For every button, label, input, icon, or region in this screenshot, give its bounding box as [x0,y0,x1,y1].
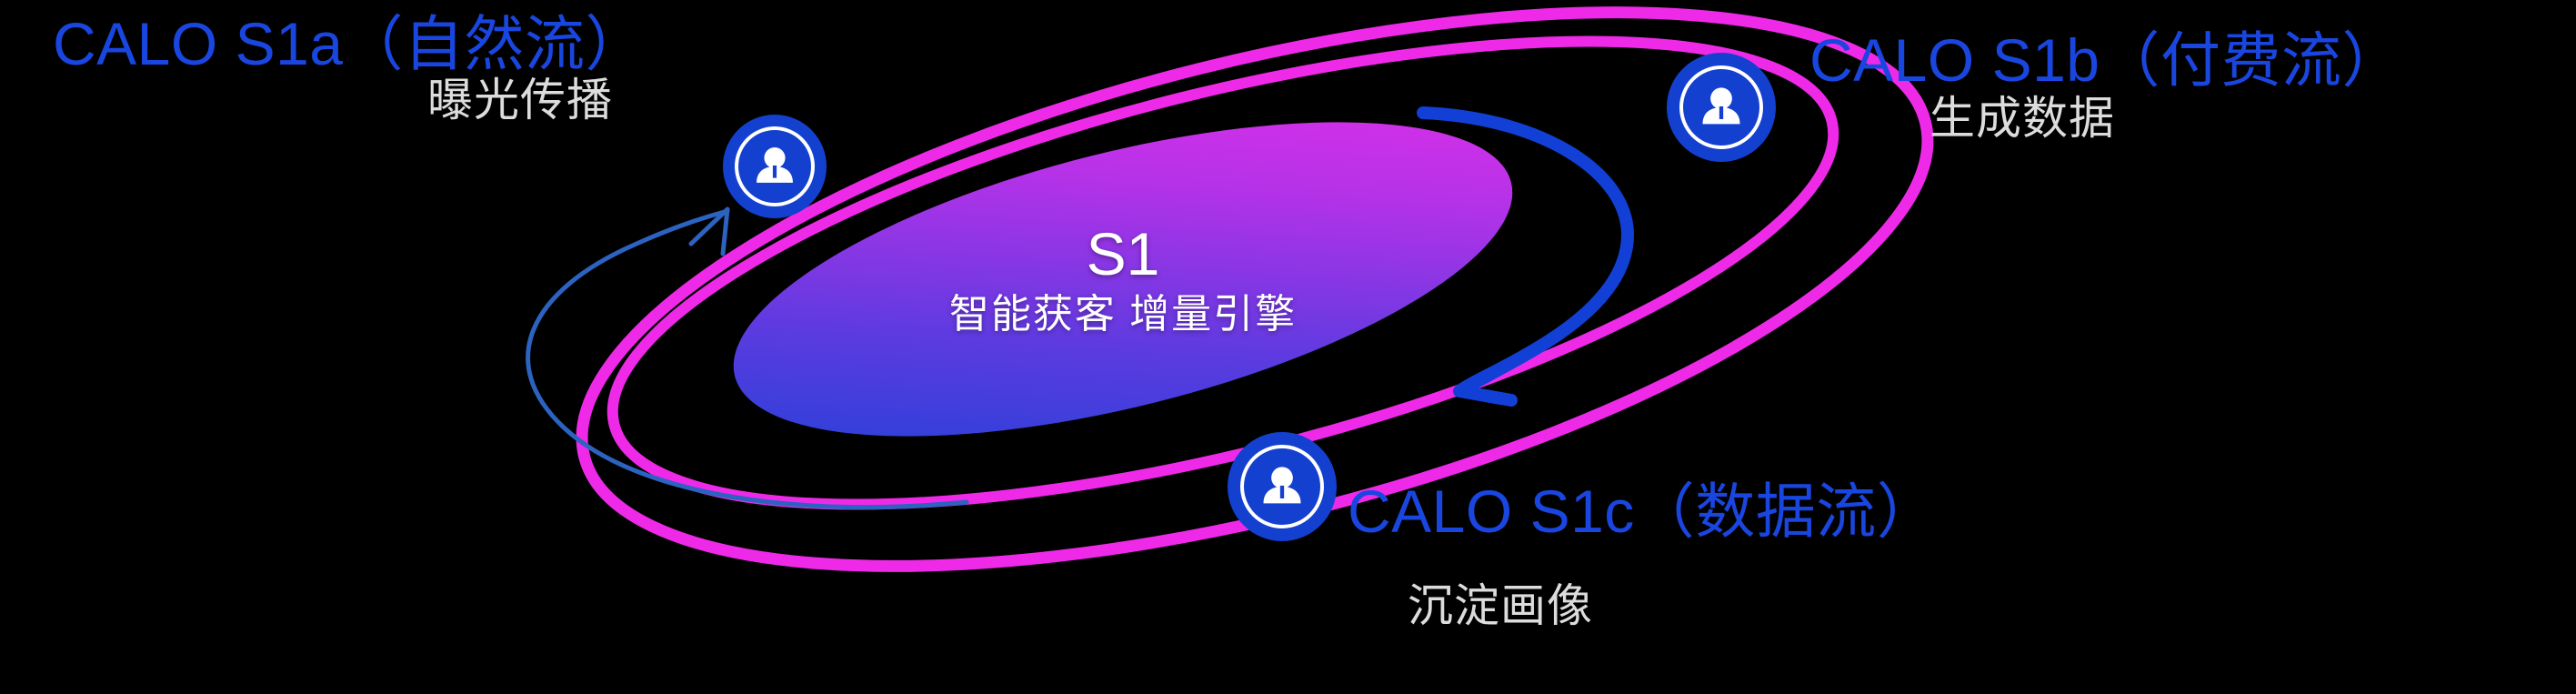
node-s1b[interactable] [1667,53,1776,162]
node-s1a[interactable] [723,115,827,218]
diagram-canvas: S1 智能获客 增量引擎 CALO S1a（自然流） 曝光传播 CALO S1b… [0,0,2576,694]
node-s1c[interactable] [1228,432,1337,541]
orbit-diagram-svg [0,0,2576,694]
core-ellipse [704,59,1542,500]
